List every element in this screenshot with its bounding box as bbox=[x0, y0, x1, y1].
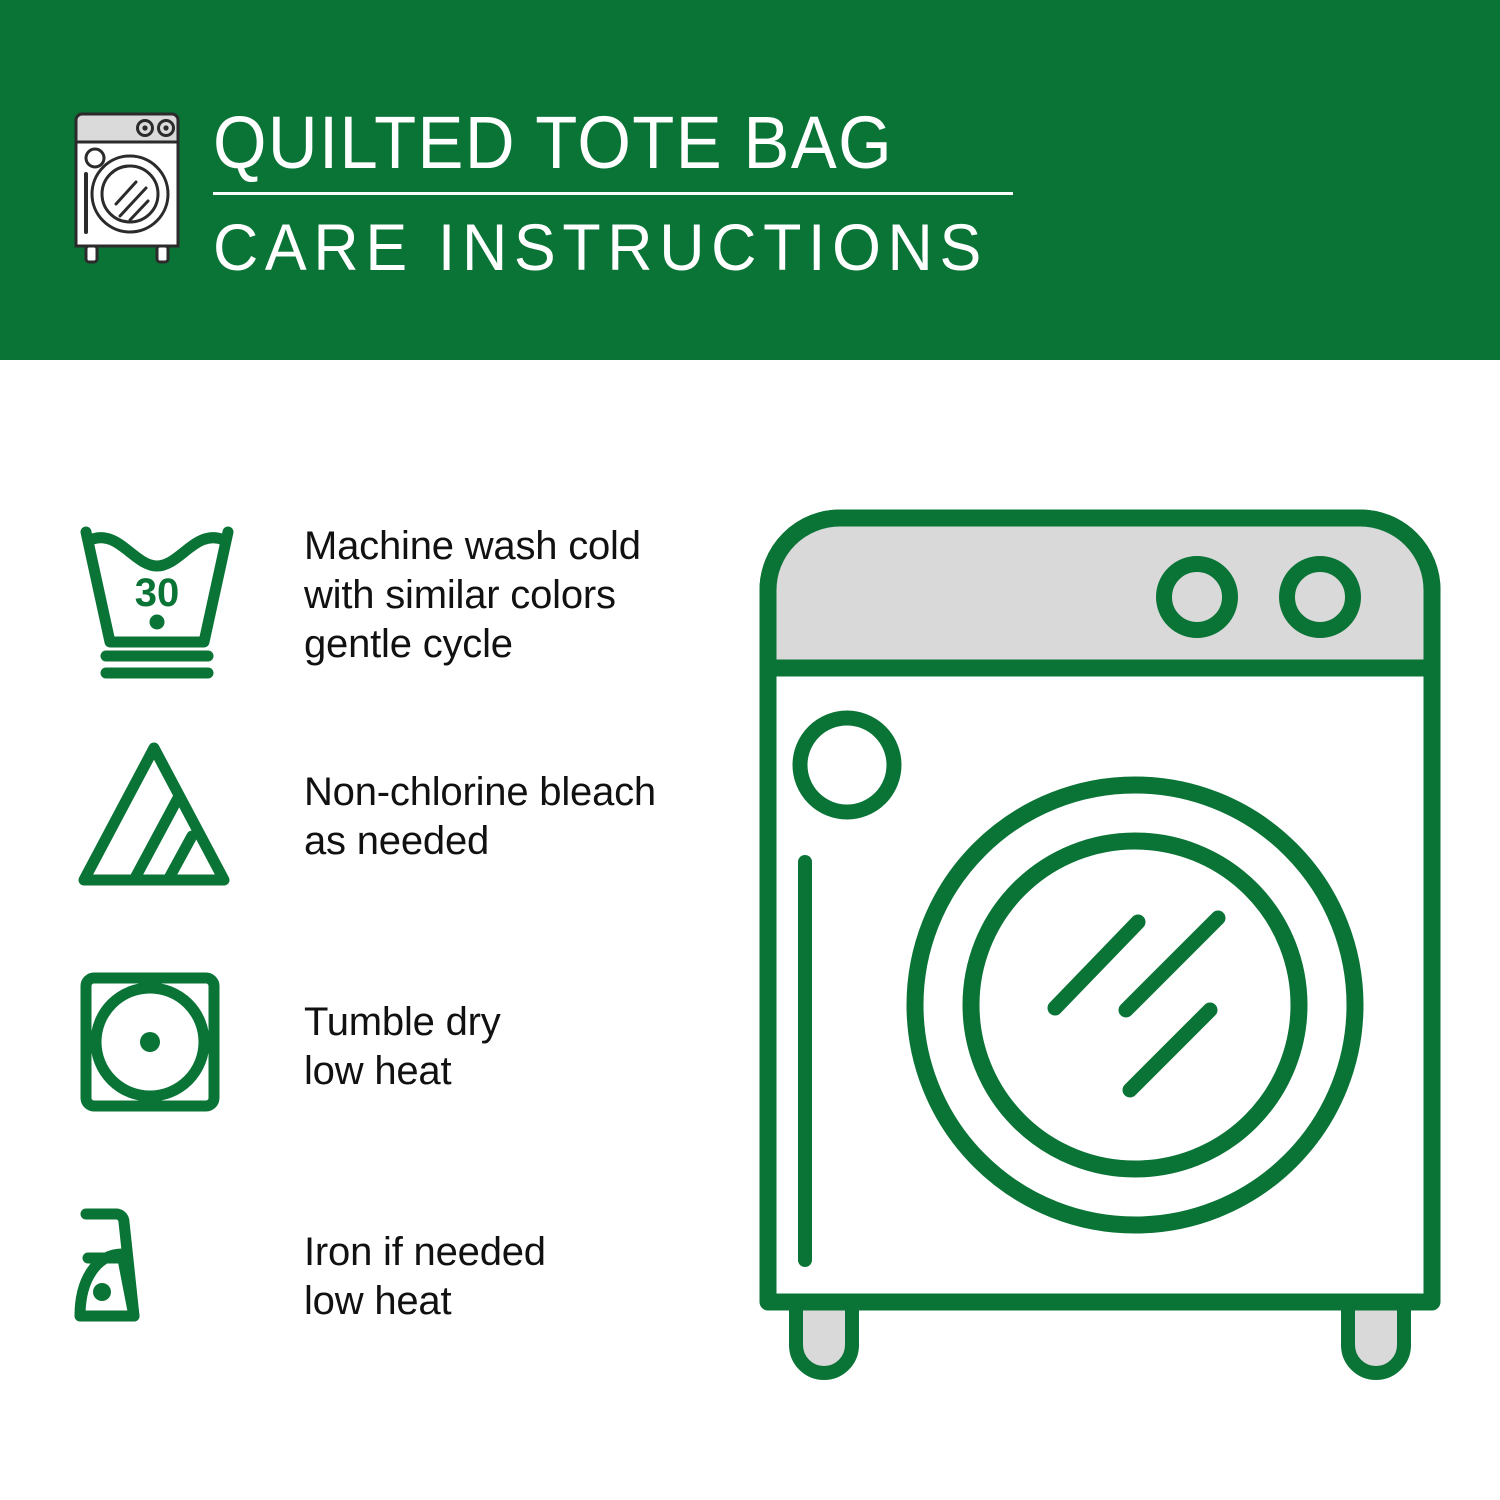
machine-control-panel bbox=[768, 518, 1432, 668]
care-item-label: Machine wash cold with similar colors ge… bbox=[304, 522, 641, 669]
tumble-dry-low-icon bbox=[72, 962, 242, 1132]
machine-wash-30-icon: 30 bbox=[72, 510, 242, 680]
page-title: QUILTED TOTE BAG bbox=[213, 100, 966, 186]
care-item-label: Tumble dry low heat bbox=[304, 998, 501, 1096]
care-item-tumble-dry: Tumble dry low heat bbox=[72, 962, 712, 1132]
page-subtitle: CARE INSTRUCTIONS bbox=[213, 209, 983, 285]
iron-low-heat-icon bbox=[72, 1192, 242, 1362]
care-item-label: Non-chlorine bleach as needed bbox=[304, 768, 656, 866]
care-item-machine-wash: 30 Machine wash cold with similar colors… bbox=[72, 510, 712, 680]
header-text-block: QUILTED TOTE BAG CARE INSTRUCTIONS bbox=[213, 100, 1023, 285]
header-divider bbox=[213, 192, 1013, 195]
header-banner: QUILTED TOTE BAG CARE INSTRUCTIONS bbox=[0, 0, 1500, 360]
care-item-label: Iron if needed low heat bbox=[304, 1228, 546, 1326]
non-chlorine-bleach-icon bbox=[72, 732, 242, 902]
washing-machine-icon bbox=[62, 104, 192, 264]
washing-machine-illustration bbox=[740, 490, 1460, 1430]
wash-temperature-value: 30 bbox=[135, 571, 180, 615]
care-item-iron: Iron if needed low heat bbox=[72, 1192, 712, 1362]
care-instructions-page: QUILTED TOTE BAG CARE INSTRUCTIONS bbox=[0, 0, 1500, 1500]
care-item-bleach: Non-chlorine bleach as needed bbox=[72, 732, 712, 902]
